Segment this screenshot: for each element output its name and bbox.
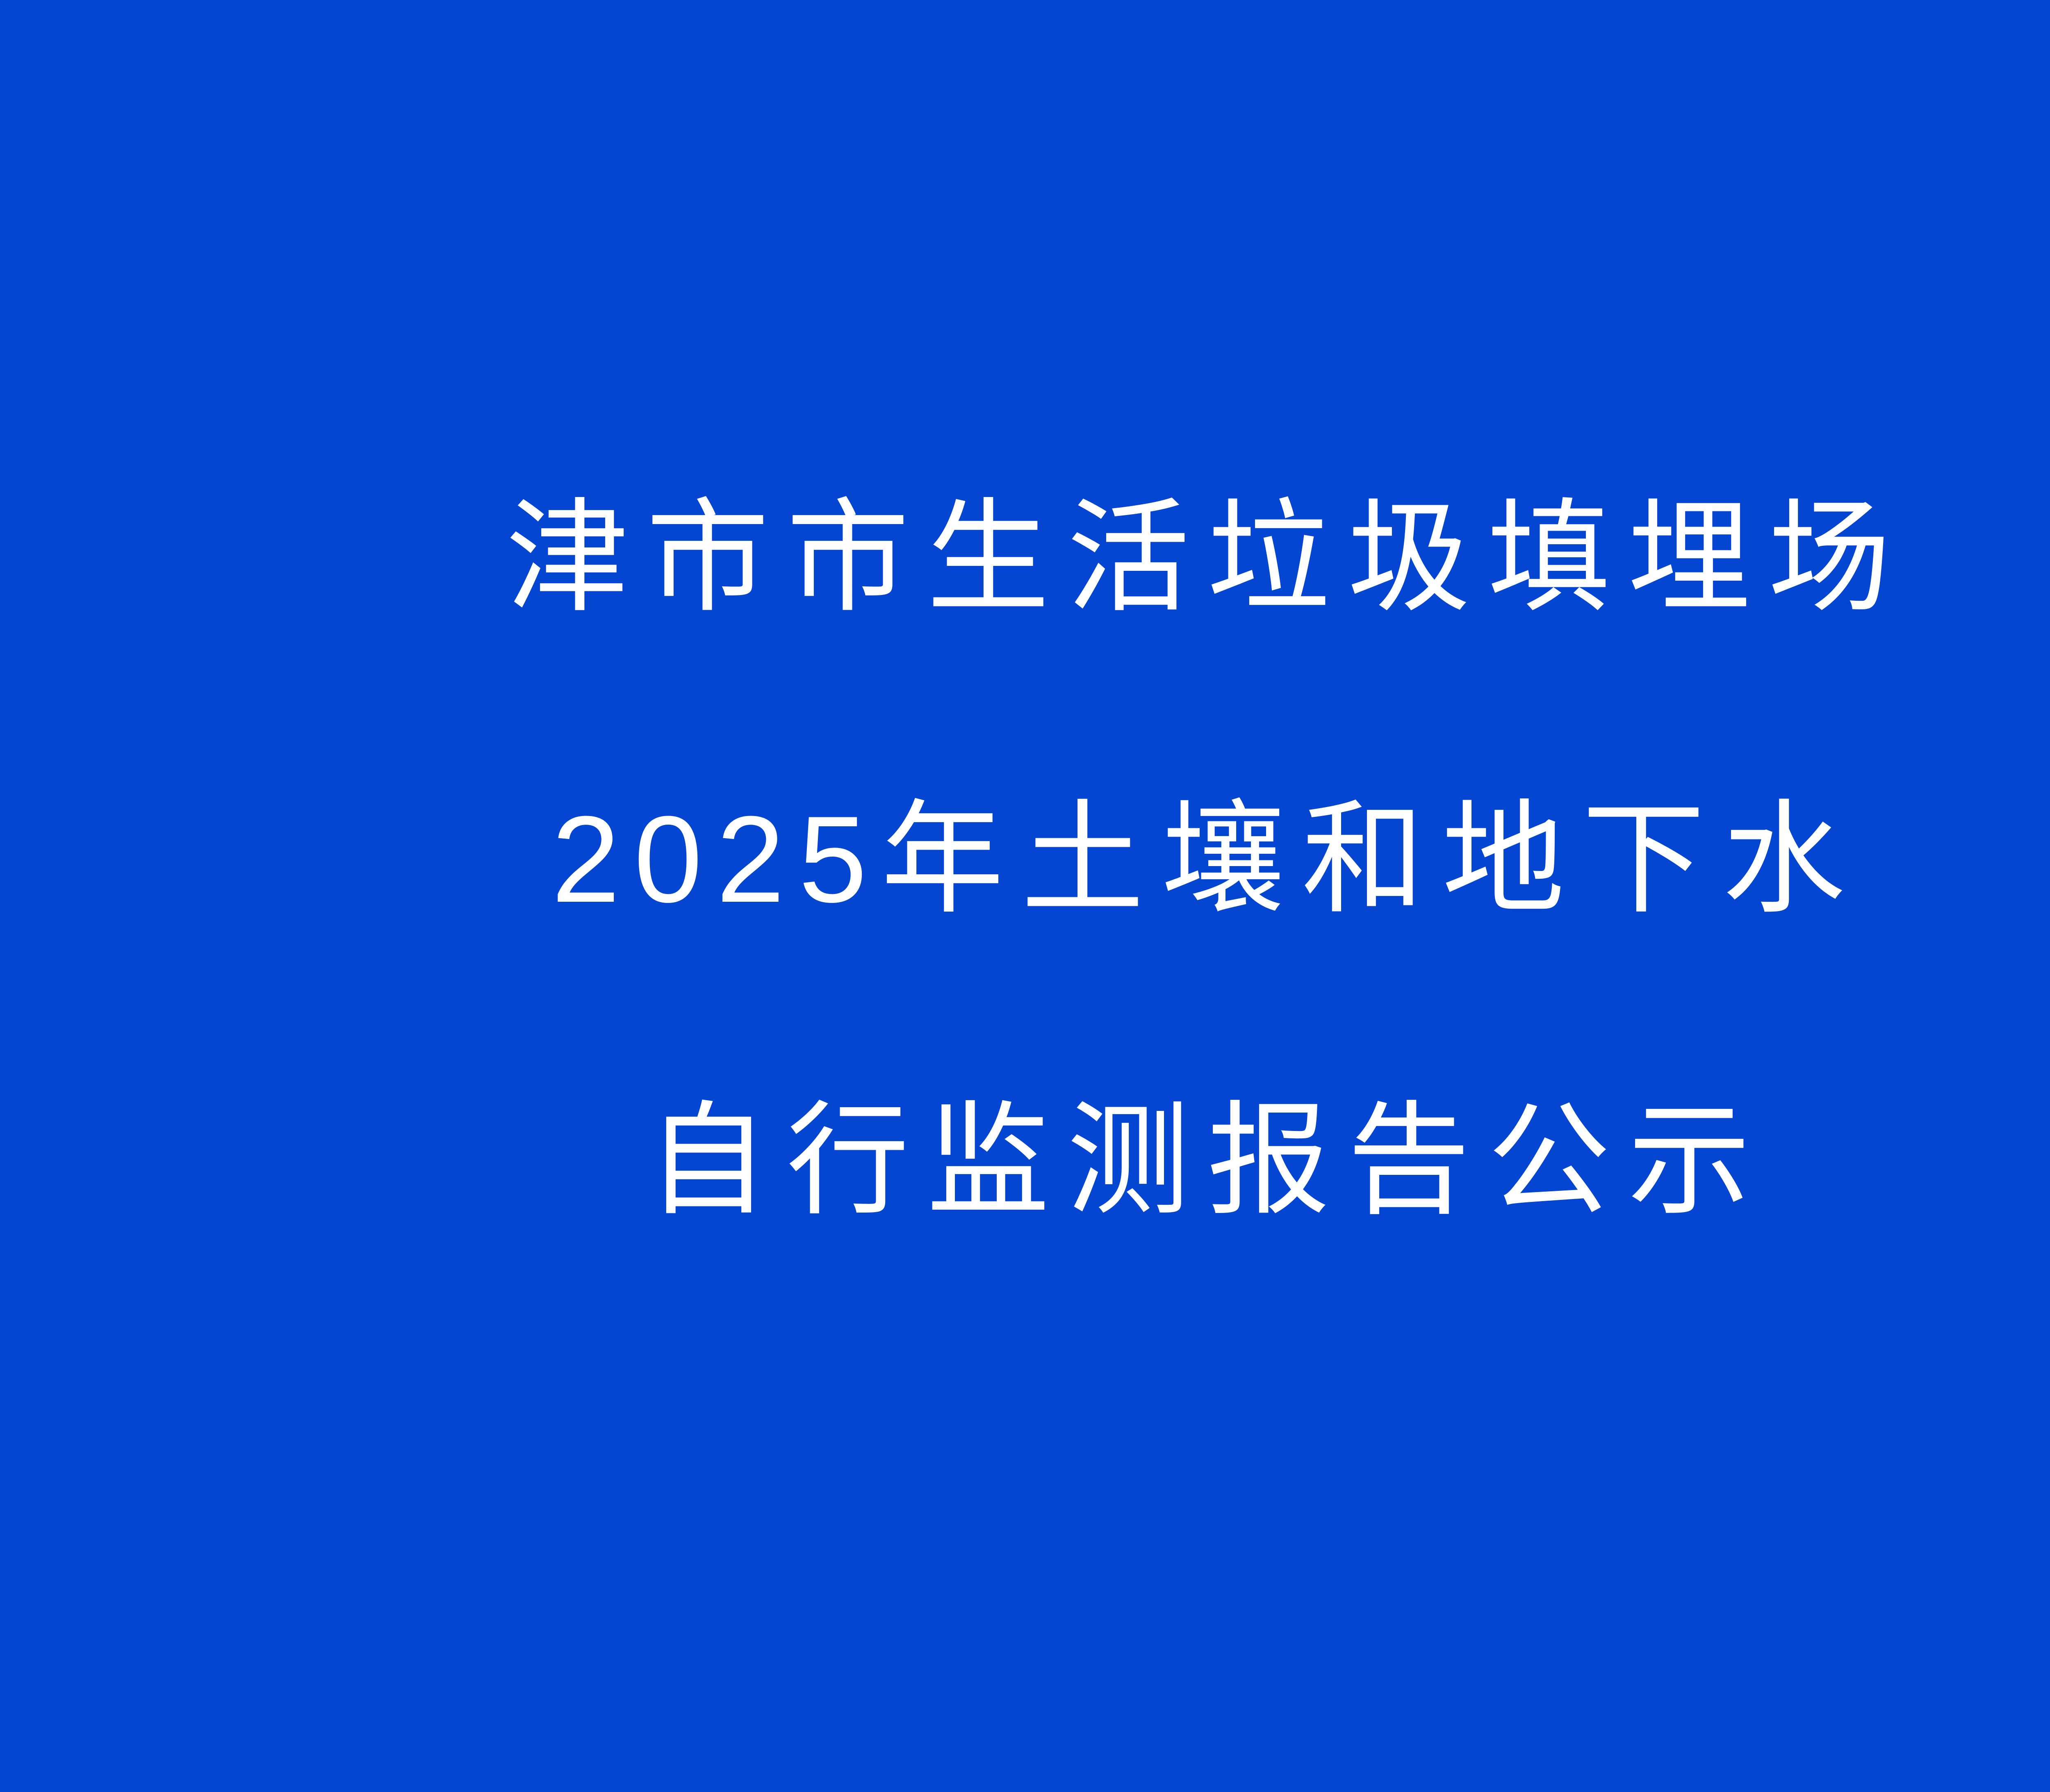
headline-block: 津市市生活垃圾填埋场 2025年土壤和地下水 自行监测报告公示 <box>0 407 2050 1311</box>
announcement-poster: 津市市生活垃圾填埋场 2025年土壤和地下水 自行监测报告公示 <box>0 0 2050 1792</box>
headline-line-1: 津市市生活垃圾填埋场 <box>0 407 2050 709</box>
year-text: 2025 <box>551 790 881 928</box>
headline-line-3: 自行监测报告公示 <box>0 1010 2050 1311</box>
headline-line-2-cjk: 年土壤和地下水 <box>881 790 1863 928</box>
headline-line-2: 2025年土壤和地下水 <box>0 709 2050 1010</box>
